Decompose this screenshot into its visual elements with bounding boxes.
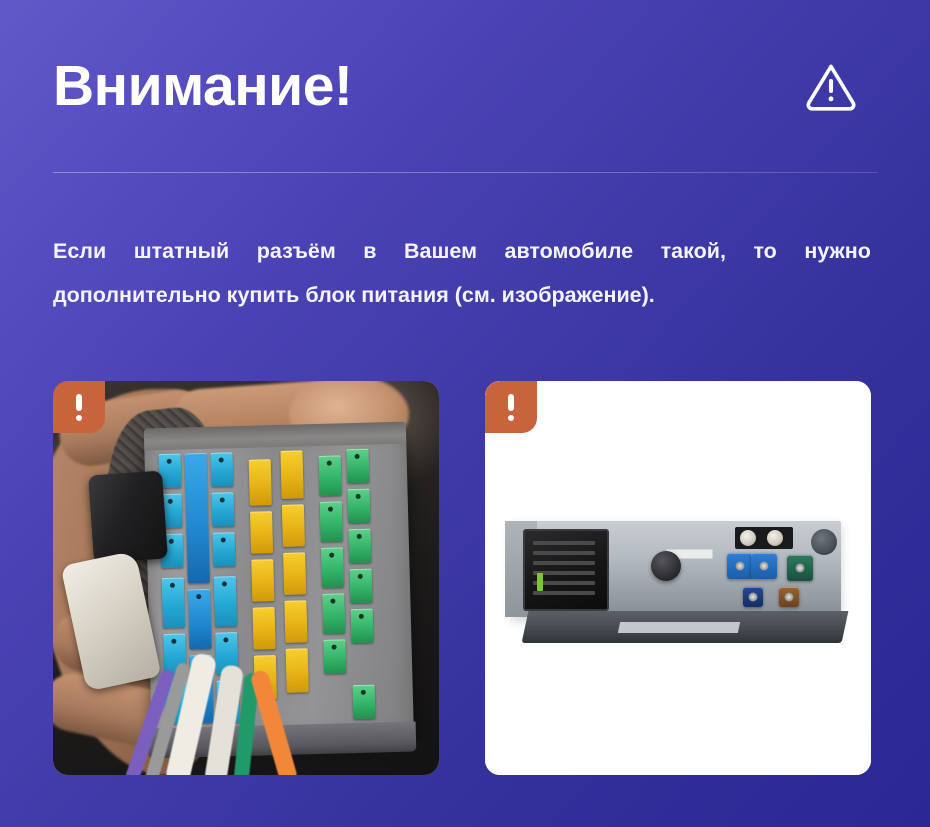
black-multipin-connector: [523, 529, 609, 611]
exclamation-dot: [508, 415, 514, 421]
exclamation-icon: [76, 394, 82, 411]
notice-word: автомобиле: [505, 229, 634, 273]
exclamation-badge-left: [53, 381, 105, 433]
fakra-connector-green: [787, 555, 813, 581]
stock-connector-photo: [53, 381, 439, 775]
notice-word: разъём: [257, 229, 336, 273]
image-cards: [53, 381, 871, 775]
round-fixing-boss: [651, 551, 681, 581]
page-header: Внимание!: [53, 0, 877, 120]
green-key-tab: [537, 573, 543, 591]
attention-notice-page: Внимание! Если штатный разъём в Вашем ав…: [0, 0, 930, 827]
power-supply-unit-card[interactable]: [485, 381, 871, 775]
fakra-connector-blue: [751, 553, 777, 579]
power-supply-module: [499, 515, 859, 647]
page-title: Внимание!: [53, 58, 352, 115]
coax-connector-pair: [735, 527, 793, 549]
notice-word: такой,: [661, 229, 726, 273]
coax-connector: [767, 530, 783, 546]
notice-word: нужно: [804, 229, 871, 273]
notice-word: штатный: [134, 229, 230, 273]
warning-triangle-icon: [803, 58, 859, 114]
notice-word: Вашем: [404, 229, 477, 273]
notice-word: Если: [53, 229, 106, 273]
stock-connector-card[interactable]: [53, 381, 439, 775]
module-serial-label: [618, 622, 740, 633]
coax-connector: [740, 530, 756, 546]
notice-text-line-1: Если штатный разъём в Вашем автомобиле т…: [53, 229, 871, 273]
pin-column-green-a: [318, 449, 347, 721]
exclamation-dot: [76, 415, 82, 421]
screw-boss: [811, 529, 837, 555]
exclamation-icon: [508, 394, 514, 411]
notice-word: то: [753, 229, 776, 273]
fakra-connector-brown: [779, 587, 799, 607]
notice-text-line-2: дополнительно купить блок питания (см. и…: [53, 273, 871, 317]
power-supply-unit-photo: [485, 381, 871, 775]
black-terminal-shape: [88, 471, 168, 564]
notice-word: в: [363, 229, 376, 273]
header-divider: [53, 172, 877, 173]
pin-column-yellow-b: [280, 450, 309, 722]
fakra-connector-blue: [727, 553, 753, 579]
notice-text: Если штатный разъём в Вашем автомобиле т…: [53, 229, 871, 317]
exclamation-badge-right: [485, 381, 537, 433]
fakra-connector-navy: [743, 587, 763, 607]
pin-column-green-b: [346, 449, 375, 721]
